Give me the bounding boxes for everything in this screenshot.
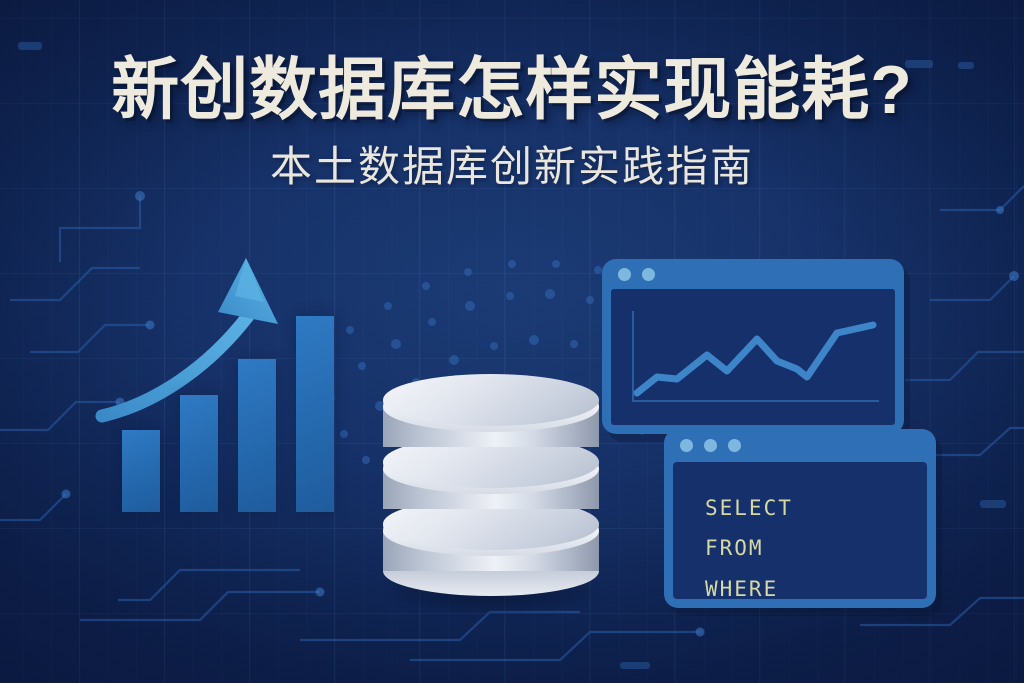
headline-block: 新创数据库怎样实现能耗? 本土数据库创新实践指南	[0, 56, 1024, 188]
sql-line-where: WHERE	[705, 569, 793, 599]
bar-3	[238, 359, 276, 512]
sql-line-from: FROM	[705, 528, 793, 568]
line-chart-series	[637, 325, 873, 393]
analytics-window[interactable]	[602, 259, 904, 434]
sql-line-select: SELECT	[705, 488, 793, 528]
sql-code-block: SELECT FROM WHERE	[705, 488, 793, 599]
window-screen: SELECT FROM WHERE	[673, 462, 927, 599]
window-titlebar	[602, 259, 904, 289]
database-cylinder	[383, 370, 599, 598]
window-dot-icon-2[interactable]	[704, 439, 717, 452]
poster-canvas: 新创数据库怎样实现能耗? 本土数据库创新实践指南	[0, 0, 1024, 683]
window-screen	[611, 289, 895, 425]
growth-bar-chart	[96, 250, 346, 512]
bar-1	[122, 430, 160, 512]
bar-2	[180, 395, 218, 512]
window-dot-icon-1[interactable]	[618, 268, 631, 281]
window-titlebar	[664, 429, 936, 462]
window-dot-icon-3[interactable]	[728, 439, 741, 452]
line-chart	[611, 289, 895, 425]
page-subtitle: 本土数据库创新实践指南	[0, 146, 1024, 188]
page-title: 新创数据库怎样实现能耗?	[0, 56, 1024, 124]
bar-4	[296, 316, 334, 512]
sql-editor-window[interactable]: SELECT FROM WHERE	[664, 429, 936, 608]
window-dot-icon-1[interactable]	[680, 439, 693, 452]
window-dot-icon-2[interactable]	[642, 268, 655, 281]
